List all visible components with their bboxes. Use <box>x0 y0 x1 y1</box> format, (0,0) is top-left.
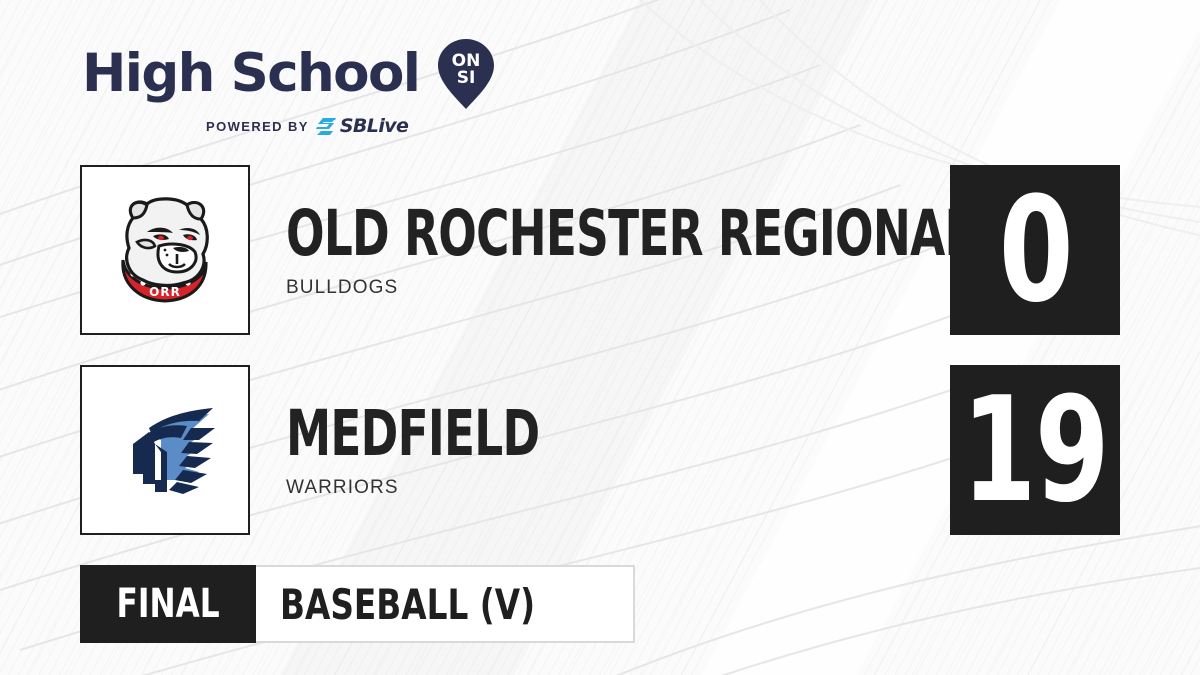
powered-by-row: POWERED BY SBLive <box>82 117 512 136</box>
warrior-head-logo-icon <box>103 388 227 512</box>
team-score-box: 19 <box>950 365 1120 535</box>
team-logo-box <box>80 365 250 535</box>
brand-wordmark: High School ON SI <box>82 38 512 110</box>
scoreboard-graphic: High School ON SI POWERED BY <box>0 0 1200 675</box>
sblive-s-icon <box>316 117 337 136</box>
sblive-wordmark: SBLive <box>340 117 408 136</box>
brand-title: High School <box>82 48 419 100</box>
team-score-box: 0 <box>950 165 1120 335</box>
status-state-label: FINAL <box>117 581 220 627</box>
sblive-logo: SBLive <box>316 117 408 136</box>
status-badge: FINAL <box>80 565 256 643</box>
bulldog-head-logo-icon: ORR <box>103 188 227 312</box>
svg-text:ORR: ORR <box>149 285 181 299</box>
team-score: 19 <box>962 378 1108 523</box>
brand-header: High School ON SI POWERED BY <box>82 38 512 136</box>
sport-label-box: BASEBALL (V) <box>256 565 635 643</box>
team-info: MEDFIELD WARRIORS <box>286 402 638 499</box>
team-mascot: WARRIORS <box>286 477 638 499</box>
game-status-bar: FINAL BASEBALL (V) <box>80 565 635 643</box>
sport-label: BASEBALL (V) <box>280 580 535 629</box>
team-name: OLD ROCHESTER REGIONAL <box>286 202 973 265</box>
team-row: MEDFIELD WARRIORS <box>80 365 638 535</box>
on-si-pin-icon: ON SI <box>435 38 497 110</box>
powered-by-label: POWERED BY <box>206 119 309 134</box>
svg-text:SI: SI <box>457 68 476 88</box>
team-logo-box: ORR <box>80 165 250 335</box>
team-name: MEDFIELD <box>286 402 539 465</box>
team-score: 0 <box>998 178 1071 323</box>
